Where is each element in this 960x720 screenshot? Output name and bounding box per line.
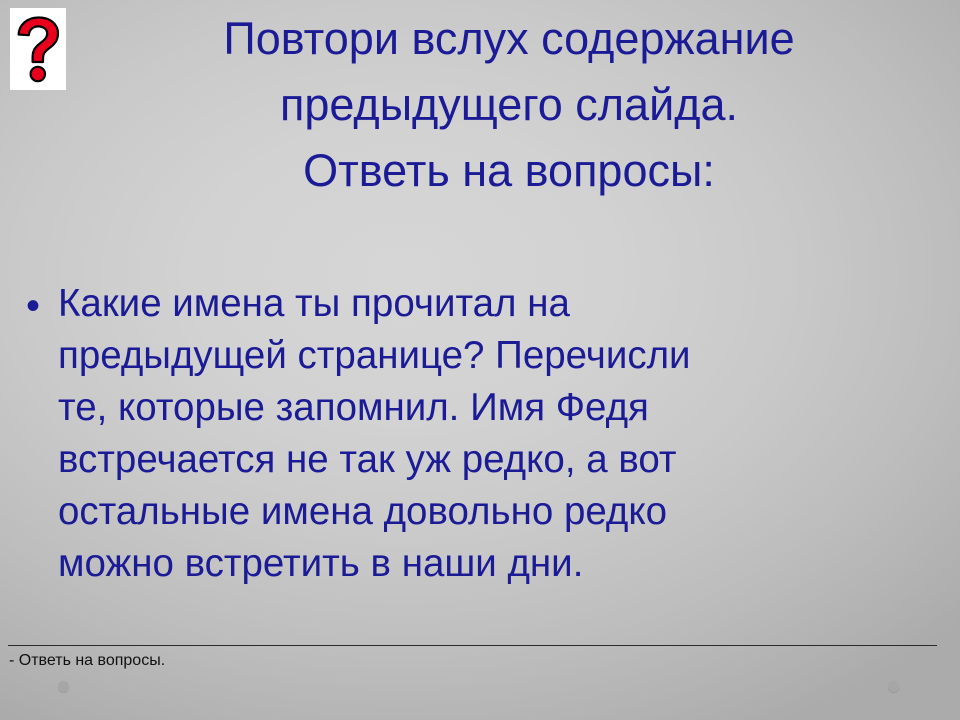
body-line-5: остальные имена довольно редко: [58, 486, 938, 538]
title-line-1: Повтори вслух содержание: [80, 6, 938, 72]
footer-dot-right: [888, 681, 899, 692]
body-bullet-item: • Какие имена ты прочитал на предыдущей …: [8, 278, 938, 590]
page-title: Повтори вслух содержание предыдущего сла…: [80, 6, 938, 204]
body-line-3: те, которые запомнил. Имя Федя: [58, 382, 938, 434]
slide-canvas: Повтори вслух содержание предыдущего сла…: [0, 0, 960, 720]
question-mark-icon: [10, 8, 66, 90]
body-text: Какие имена ты прочитал на предыдущей ст…: [58, 278, 938, 590]
body-line-6: можно встретить в наши дни.: [58, 538, 938, 590]
title-line-3: Ответь на вопросы:: [80, 138, 938, 204]
footer-divider: [8, 645, 937, 646]
body-line-4: встречается не так уж редко, а вот: [58, 434, 938, 486]
footer-note: - Ответь на вопросы.: [9, 650, 165, 672]
bullet-icon: •: [8, 278, 58, 332]
body-line-1: Какие имена ты прочитал на: [58, 278, 938, 330]
title-line-2: предыдущего слайда.: [80, 72, 938, 138]
body-line-2: предыдущей странице? Перечисли: [58, 330, 938, 382]
footer-dot-left: [58, 681, 69, 692]
